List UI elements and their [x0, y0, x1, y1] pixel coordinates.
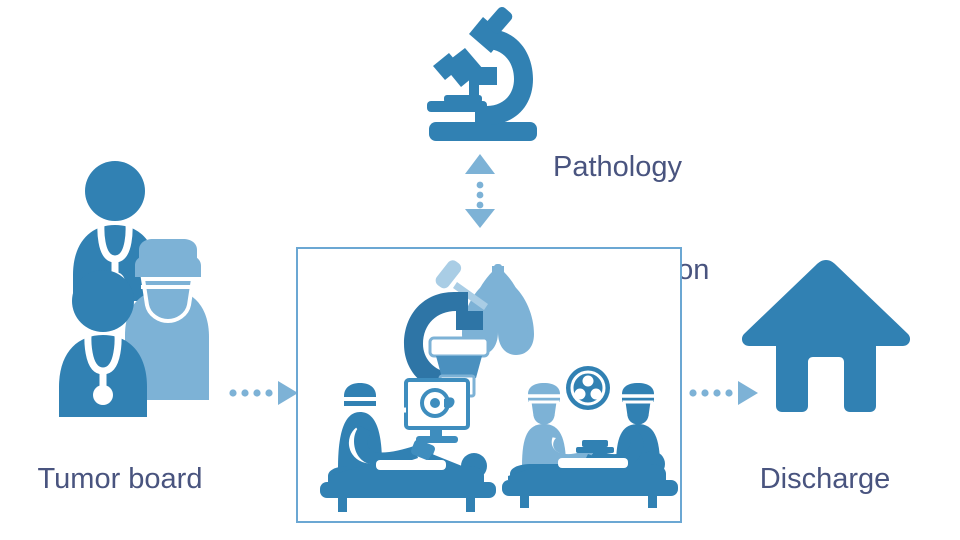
monitor-icon	[406, 380, 468, 443]
microscope-icon	[413, 5, 553, 145]
arrow-down-head-icon	[465, 209, 495, 228]
operating-table-icon	[502, 480, 678, 508]
discharge-label: Discharge	[700, 462, 950, 496]
surgery-icon	[500, 366, 690, 506]
operating-lamp-icon	[566, 366, 610, 410]
house-icon	[740, 258, 912, 413]
pathology-label-line-1: Pathology	[553, 150, 709, 184]
tumor-board-label: Tumor board	[0, 462, 240, 496]
bronchoscopy-icon	[316, 368, 516, 506]
tumor-board-icon	[55, 155, 235, 420]
arrow-pathology-to-procedure	[455, 152, 505, 230]
instrument-tray-icon	[576, 440, 614, 453]
discharge-icon	[740, 258, 912, 413]
arrow-up-head-icon	[465, 154, 495, 174]
diagram-canvas: Tumor board	[0, 0, 960, 540]
arrow-tumor-board-to-procedure	[228, 378, 300, 408]
doctors-group-icon	[55, 155, 235, 420]
